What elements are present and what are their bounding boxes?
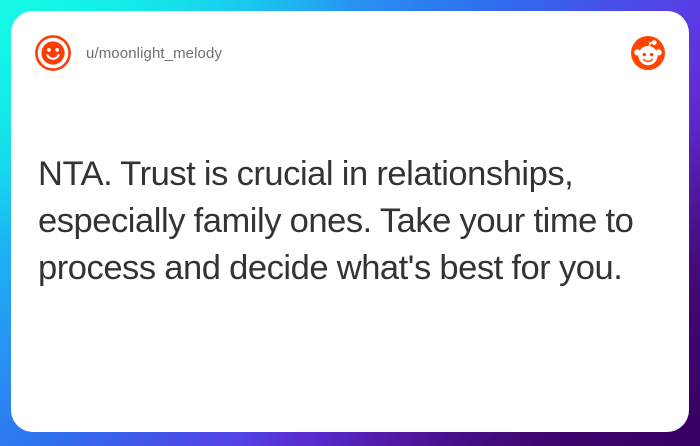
gradient-background: u/moonlight_melody NTA. Trust is crucial… [0,0,700,446]
post-body-text: NTA. Trust is crucial in relationships, … [38,151,659,292]
post-author-username: u/moonlight_melody [86,45,222,62]
post-header: u/moonlight_melody [11,11,689,95]
reddit-post-card: u/moonlight_melody NTA. Trust is crucial… [11,11,689,432]
avatar [34,34,72,72]
reddit-snoo-icon [631,36,665,70]
